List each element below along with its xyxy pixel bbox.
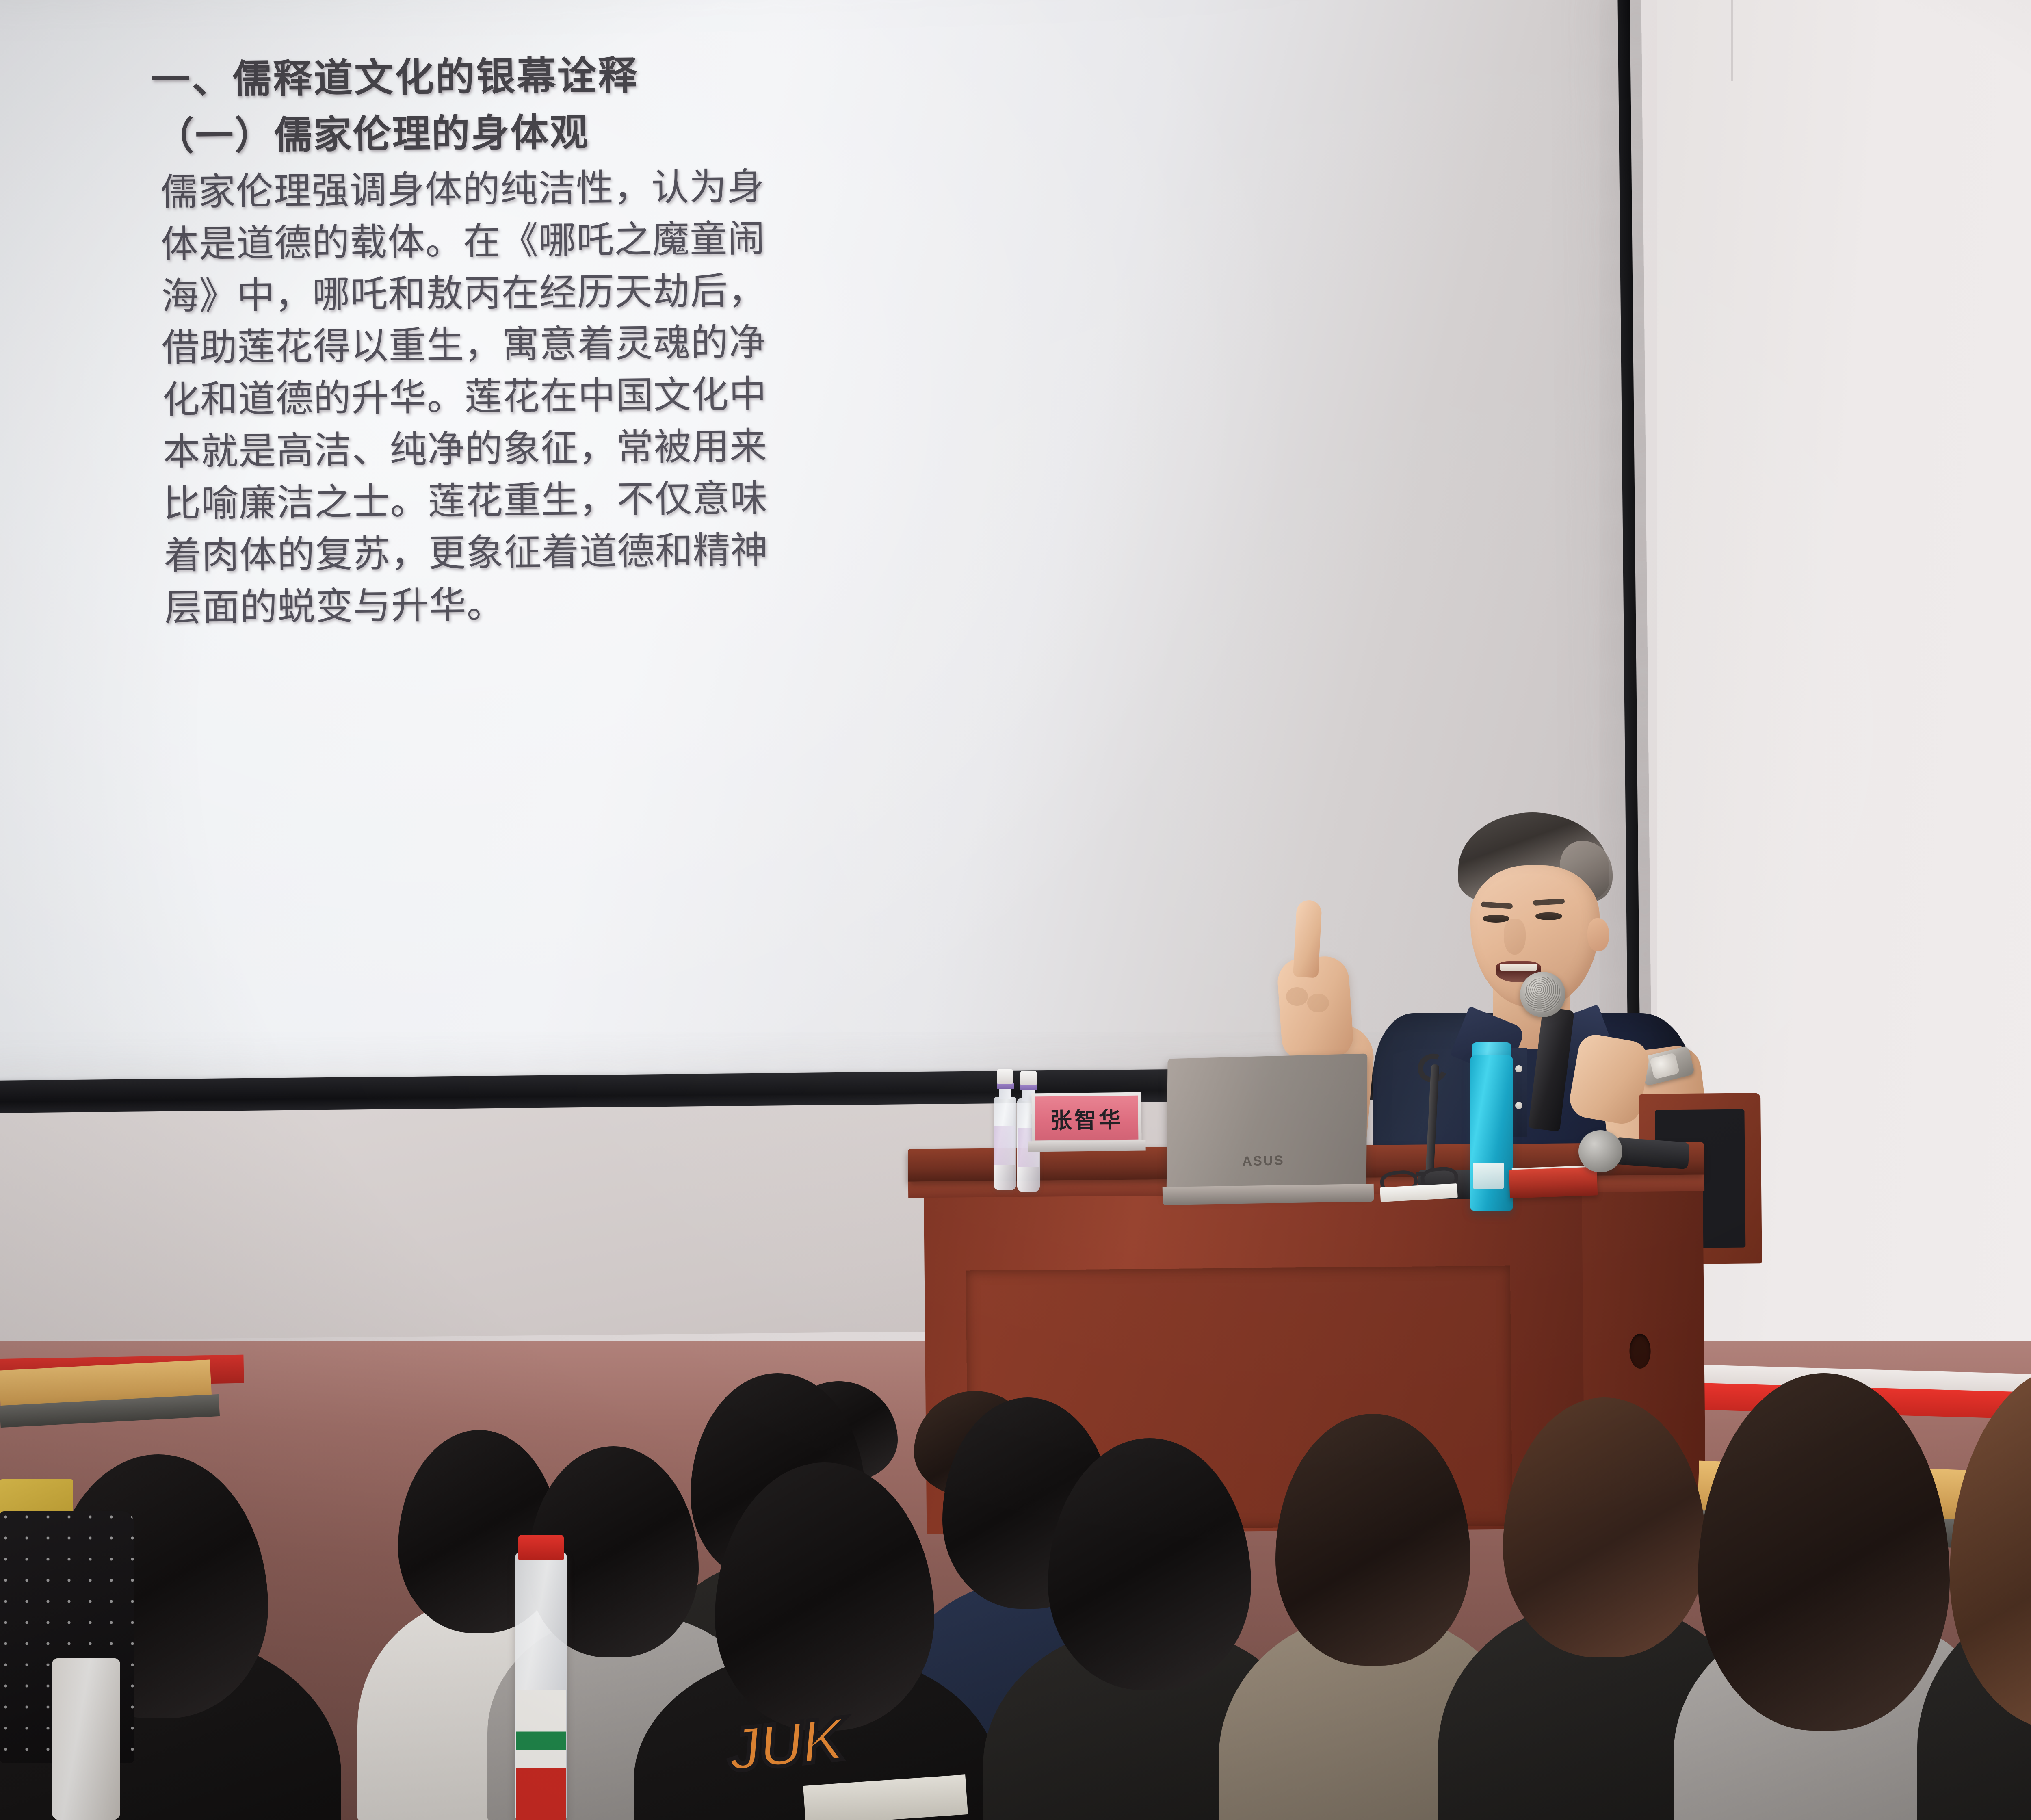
slide-body-line: 儒家伦理强调身体的纯洁性，认为身 xyxy=(160,158,1127,219)
slide-body: 儒家伦理强调身体的纯洁性，认为身 体是道德的载体。在《哪吒之魔童闹 海》中，哪吒… xyxy=(160,158,1131,635)
speaker-shirt-button xyxy=(1515,1102,1522,1109)
bottle-ring xyxy=(997,1083,1014,1089)
lecture-hall-photo: 一、儒释道文化的银幕诠释 （一）儒家伦理的身体观 儒家伦理强调身体的纯洁性，认为… xyxy=(0,0,2031,1820)
slide-body-line: 层面的蜕变与升华。 xyxy=(164,573,1131,635)
audience-area xyxy=(0,1170,2031,1820)
nameplate-text: 张智华 xyxy=(1050,1102,1123,1135)
wall-seam xyxy=(1731,0,1733,81)
slide-body-line: 本就是高洁、纯净的象征，常被用来 xyxy=(162,417,1130,479)
audience-head xyxy=(1698,1373,1950,1731)
bottle-label xyxy=(994,1126,1015,1165)
slide-body-line: 化和道德的升华。莲花在中国文化中 xyxy=(162,365,1129,427)
bottle-cap[interactable] xyxy=(518,1535,564,1560)
slide-body-line: 着肉体的复苏，更象征着道德和精神 xyxy=(164,521,1131,583)
speaker-index-finger xyxy=(1293,900,1322,978)
speaker-teeth xyxy=(1500,964,1537,971)
slide-content: 一、儒释道文化的银幕诠释 （一）儒家伦理的身体观 儒家伦理强调身体的纯洁性，认为… xyxy=(159,46,1132,634)
nameplate-frame: 张智华 xyxy=(1031,1092,1141,1144)
slide-heading-2: （一）儒家伦理的身体观 xyxy=(156,102,1127,163)
bottle-cap[interactable] xyxy=(1020,1071,1037,1085)
spare-microphone-icon[interactable] xyxy=(1578,1130,1622,1172)
nameplate: 张智华 xyxy=(1031,1092,1142,1155)
spare-microphone-handle[interactable] xyxy=(1615,1137,1690,1169)
speaker-nose xyxy=(1504,919,1526,955)
nameplate-base xyxy=(1028,1140,1145,1152)
nameplate-card: 张智华 xyxy=(1035,1096,1138,1141)
jacket-patch-text: JUK xyxy=(723,1704,847,1784)
speaker-knuckle xyxy=(1286,987,1308,1006)
speaker-eye xyxy=(1483,915,1509,923)
speaker-knuckle xyxy=(1307,994,1329,1012)
slide-body-line: 借助莲花得以重生，寓意着灵魂的净 xyxy=(162,313,1129,375)
slide-body-line: 比喻廉洁之士。莲花重生，不仅意味 xyxy=(163,469,1130,531)
laptop-brand-label: ASUS xyxy=(1242,1152,1295,1167)
paper-cup[interactable] xyxy=(52,1658,120,1820)
slide-body-line: 体是道德的载体。在《哪吒之魔童闹 xyxy=(160,210,1128,271)
bottle-label xyxy=(516,1690,566,1820)
audience-head xyxy=(1275,1414,1470,1666)
slide-body-line: 海》中，哪吒和敖丙在经历天劫后， xyxy=(161,261,1128,323)
speaker-shirt-button xyxy=(1515,1065,1522,1072)
microphone-icon[interactable] xyxy=(1520,972,1565,1017)
speaker-ear xyxy=(1587,918,1609,951)
slide-heading-1: 一、儒释道文化的银幕诠释 xyxy=(151,46,1126,106)
speaker-eye xyxy=(1535,912,1562,920)
audience-head xyxy=(1503,1397,1706,1657)
bottle-ring xyxy=(1020,1085,1037,1090)
bottle-cap[interactable] xyxy=(997,1069,1013,1084)
